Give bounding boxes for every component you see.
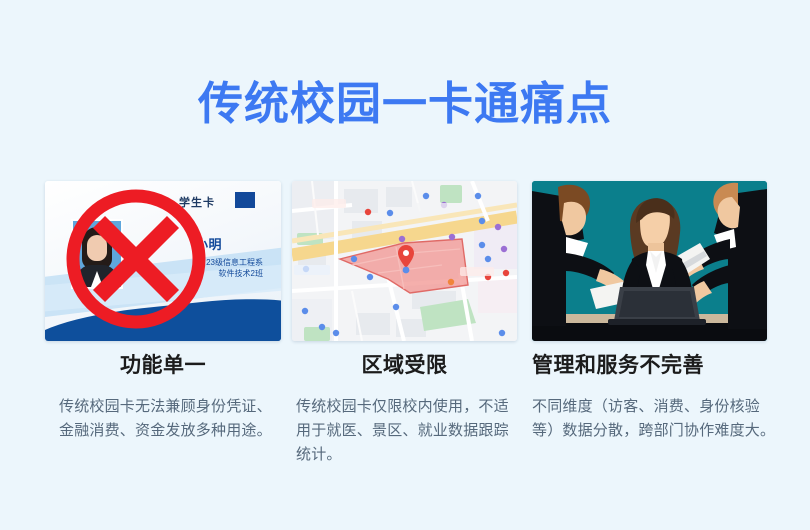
caption-single-function: 功能单一 传统校园卡无法兼顾身份凭证、金融消费、资金发放多种用途。 (45, 352, 281, 443)
figure-area-limited (292, 181, 517, 341)
laptop-icon (608, 287, 706, 325)
card-department-line1: 23级信息工程系 (206, 258, 263, 267)
card-department-line2: 软件技术2班 (219, 269, 263, 278)
figure-management-service (532, 181, 767, 341)
caption-management-service: 管理和服务不完善 不同维度（访客、消费、身份核验等）数据分散，跨部门协作难度大。 (532, 352, 777, 443)
card-logo-icon (235, 192, 255, 208)
card-type-label: 学生卡 (179, 194, 215, 210)
captions-row: 功能单一 传统校园卡无法兼顾身份凭证、金融消费、资金发放多种用途。 区域受限 传… (45, 352, 767, 482)
page-title: 传统校园一卡通痛点 (0, 78, 810, 130)
caption-body: 传统校园卡仅限校内使用，不适用于就医、景区、就业数据跟踪统计。 (292, 395, 517, 467)
slide-canvas: 传统校园一卡通痛点 学生卡 小明 23级信息工程系 (0, 0, 810, 530)
caption-area-limited: 区域受限 传统校园卡仅限校内使用，不适用于就医、景区、就业数据跟踪统计。 (292, 352, 517, 467)
figures-row: 学生卡 小明 23级信息工程系 软件技术2班 (45, 181, 767, 341)
caption-body: 传统校园卡无法兼顾身份凭证、金融消费、资金发放多种用途。 (45, 395, 281, 443)
caption-heading: 管理和服务不完善 (532, 352, 777, 379)
caption-heading: 区域受限 (292, 352, 517, 379)
photo-face (87, 235, 107, 261)
card-student-name: 小明 (195, 234, 222, 253)
caption-heading: 功能单一 (45, 352, 281, 379)
student-photo (71, 219, 123, 289)
caption-body: 不同维度（访客、消费、身份核验等）数据分散，跨部门协作难度大。 (532, 395, 777, 443)
office-stress-illustration (532, 181, 767, 341)
student-id-card: 学生卡 小明 23级信息工程系 软件技术2班 (45, 181, 281, 341)
card-department: 23级信息工程系 软件技术2班 (173, 257, 263, 279)
figure-single-function: 学生卡 小明 23级信息工程系 软件技术2班 (45, 181, 281, 341)
campus-map-image (292, 181, 517, 341)
